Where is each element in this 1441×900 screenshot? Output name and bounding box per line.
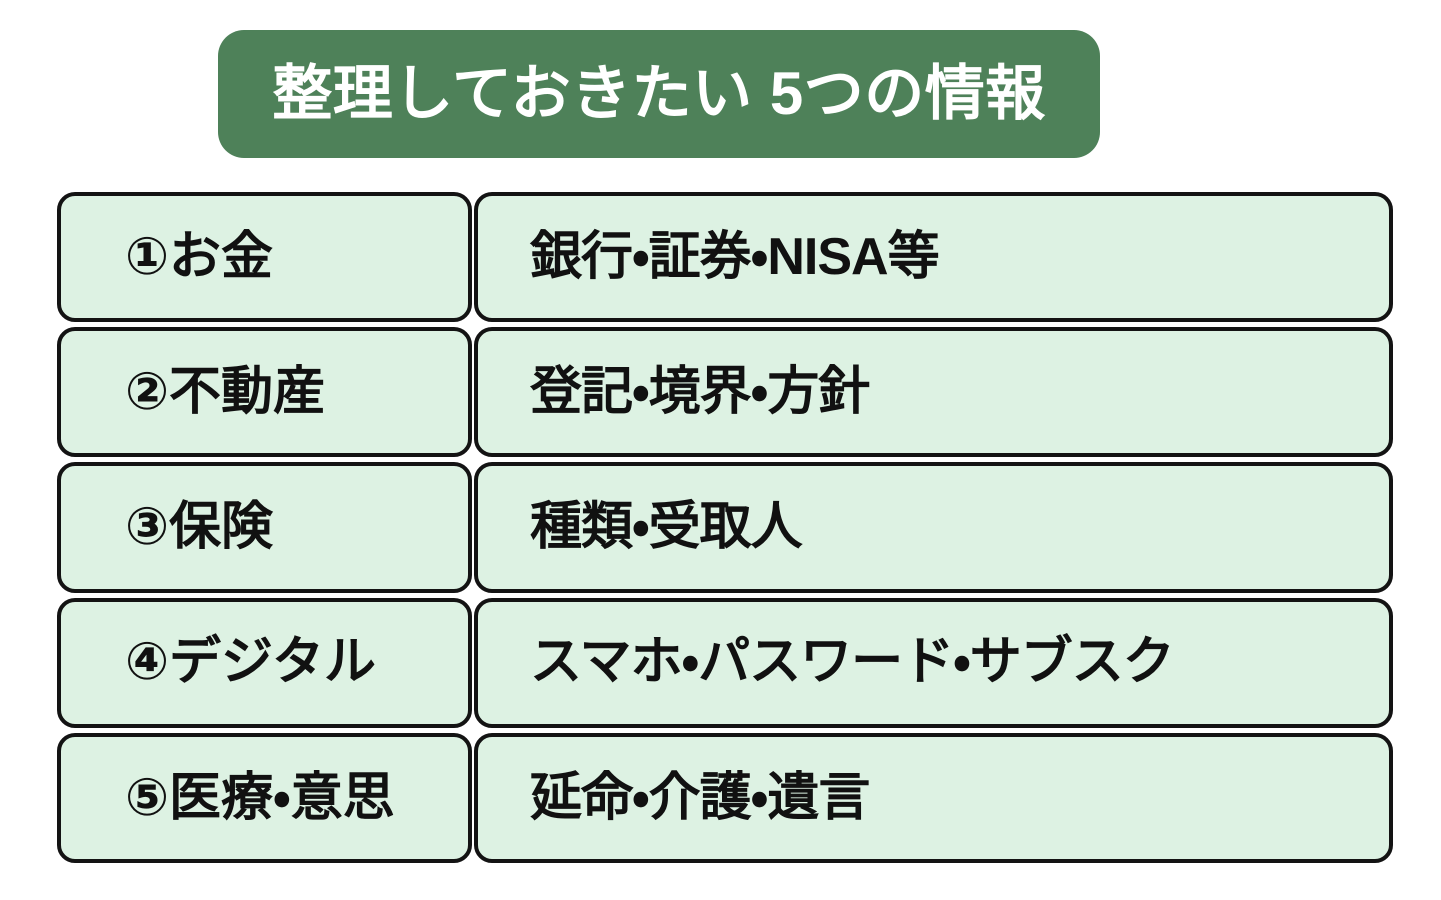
details-label-4: スマホ・パスワード・サブスク <box>530 635 1174 690</box>
category-cell-2: ②不動産 <box>57 327 472 457</box>
category-cell-5: ⑤医療・意思 <box>57 733 472 863</box>
table-row: ①お金 銀行・証券・NISA等 <box>57 192 1393 322</box>
details-label-3: 種類・受取人 <box>530 500 802 555</box>
title-banner: 整理しておきたい 5つの情報 <box>218 30 1100 158</box>
details-label-5: 延命・介護・遺言 <box>530 771 869 826</box>
category-cell-4: ④デジタル <box>57 598 472 728</box>
category-label-2: ②不動産 <box>125 365 325 420</box>
table-row: ②不動産 登記・境界・方針 <box>57 327 1393 457</box>
category-label-5: ⑤医療・意思 <box>125 771 395 826</box>
table-row: ⑤医療・意思 延命・介護・遺言 <box>57 733 1393 863</box>
slide-canvas: 整理しておきたい 5つの情報 ①お金 銀行・証券・NISA等 ②不動産 登記・境… <box>0 0 1441 900</box>
details-label-1: 銀行・証券・NISA等 <box>530 230 939 285</box>
details-cell-1: 銀行・証券・NISA等 <box>474 192 1393 322</box>
details-cell-5: 延命・介護・遺言 <box>474 733 1393 863</box>
category-label-3: ③保険 <box>125 500 273 555</box>
category-cell-1: ①お金 <box>57 192 472 322</box>
details-label-2: 登記・境界・方針 <box>530 365 869 420</box>
details-cell-4: スマホ・パスワード・サブスク <box>474 598 1393 728</box>
category-label-4: ④デジタル <box>125 635 376 690</box>
information-table: ①お金 銀行・証券・NISA等 ②不動産 登記・境界・方針 ③保険 種類・受取人 <box>57 192 1393 863</box>
details-cell-3: 種類・受取人 <box>474 462 1393 592</box>
details-cell-2: 登記・境界・方針 <box>474 327 1393 457</box>
category-cell-3: ③保険 <box>57 462 472 592</box>
table-row: ④デジタル スマホ・パスワード・サブスク <box>57 598 1393 728</box>
category-label-1: ①お金 <box>125 230 273 285</box>
table-row: ③保険 種類・受取人 <box>57 462 1393 592</box>
page-title: 整理しておきたい 5つの情報 <box>272 64 1045 124</box>
